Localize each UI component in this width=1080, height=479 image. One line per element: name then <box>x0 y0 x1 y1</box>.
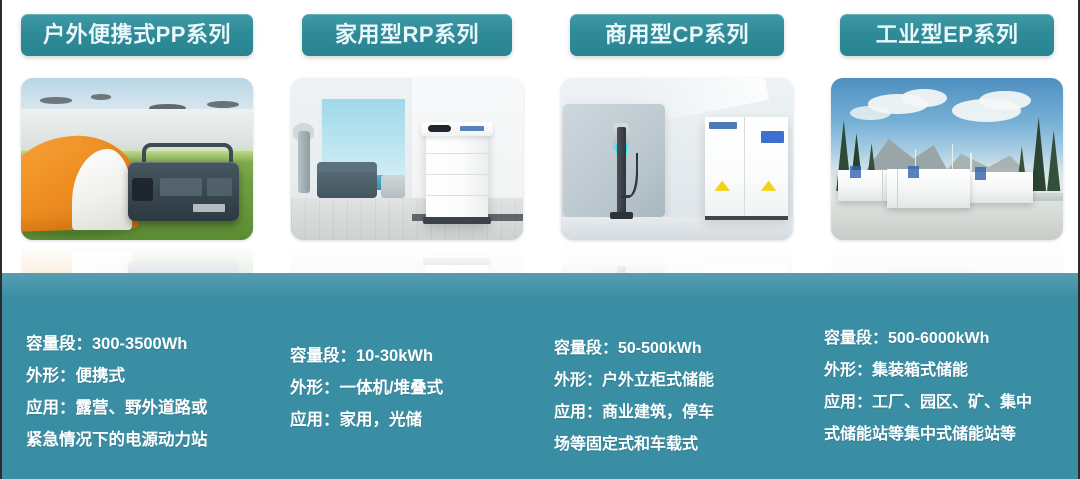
spec-line-application: 应用：商业建筑，停车 <box>554 397 812 429</box>
cabinet-door-seam <box>744 117 745 217</box>
product-series-infographic: 户外便携式PP系列 <box>0 0 1080 479</box>
spec-line-capacity: 容量段：300-3500Wh <box>26 328 272 360</box>
spec-line-application: 应用：露营、野外道路或 <box>26 392 272 424</box>
product-badge-rp[interactable]: 家用型RP系列 <box>302 14 512 56</box>
product-badge-cp[interactable]: 商用型CP系列 <box>570 14 784 56</box>
spec-line-application-cont: 场等固定式和车载式 <box>554 429 812 461</box>
brand-logo-icon <box>908 166 920 179</box>
product-photo-wrap-ep <box>831 78 1063 240</box>
rock-icon <box>91 94 112 100</box>
cloud-icon <box>850 106 892 121</box>
home-stacked-battery-photo <box>291 78 523 240</box>
brand-logo-icon <box>460 126 483 132</box>
spec-line-form: 外形：户外立柜式储能 <box>554 365 812 397</box>
spec-line-form: 外形：便携式 <box>26 360 272 392</box>
backdrop-wall <box>563 104 665 217</box>
power-station-logo <box>193 204 225 212</box>
spec-column-rp: 容量段：10-30kWh 外形：一体机/堆叠式 应用：家用，光储 <box>272 273 542 479</box>
product-card-cp[interactable]: 商用型CP系列 <box>542 0 812 273</box>
spec-line-application-cont: 式储能站等集中式储能站等 <box>824 419 1080 451</box>
portable-power-station-camping-photo <box>21 78 253 240</box>
home-battery-body <box>426 128 489 224</box>
brand-logo-icon <box>850 166 862 179</box>
commercial-cabinet-ev-charger-photo <box>561 78 793 240</box>
spec-columns: 容量段：300-3500Wh 外形：便携式 应用：露营、野外道路或 紧急情况下的… <box>2 273 1080 479</box>
brand-logo-icon <box>709 122 737 129</box>
product-card-ep[interactable]: 工业型EP系列 <box>812 0 1080 273</box>
product-photo-wrap-cp <box>561 78 793 240</box>
spec-line-capacity: 容量段：500-6000kWh <box>824 323 1080 355</box>
battery-base <box>423 217 490 223</box>
floor-region <box>561 217 793 240</box>
spec-line-application: 应用：工厂、园区、矿、集中 <box>824 387 1080 419</box>
cabinet-footing <box>705 216 789 220</box>
brand-logo-icon <box>975 167 987 180</box>
battery-module-seam <box>426 153 489 154</box>
cloud-icon <box>901 89 947 107</box>
battery-module-seam <box>426 174 489 175</box>
spec-line-form: 外形：一体机/堆叠式 <box>290 372 542 404</box>
spec-line-form: 外形：集装箱式储能 <box>824 355 1080 387</box>
product-card-row: 户外便携式PP系列 <box>2 0 1080 273</box>
spec-line-capacity: 容量段：10-30kWh <box>290 340 542 372</box>
power-station-panel <box>160 178 202 196</box>
sofa-icon <box>317 172 377 198</box>
product-badge-pp[interactable]: 户外便携式PP系列 <box>21 14 253 56</box>
rock-icon <box>40 97 72 103</box>
product-photo-wrap-pp <box>21 78 253 240</box>
cabinet-display-screen <box>761 131 784 142</box>
storage-container <box>887 169 971 208</box>
product-badge-ep[interactable]: 工业型EP系列 <box>840 14 1054 56</box>
container-energy-storage-photo <box>831 78 1063 240</box>
rock-icon <box>207 101 239 108</box>
container-door <box>882 169 898 208</box>
floor-lamp-icon <box>298 131 310 193</box>
product-photo-wrap-rp <box>291 78 523 240</box>
power-station-panel-secondary <box>207 178 233 196</box>
power-station-vent <box>132 178 153 201</box>
product-card-rp[interactable]: 家用型RP系列 <box>272 0 542 273</box>
spec-column-cp: 容量段：50-500kWh 外形：户外立柜式储能 应用：商业建筑，停车 场等固定… <box>542 273 812 479</box>
spec-column-pp: 容量段：300-3500Wh 外形：便携式 应用：露营、野外道路或 紧急情况下的… <box>2 273 272 479</box>
spec-line-application-cont: 紧急情况下的电源动力站 <box>26 424 272 456</box>
armchair-icon <box>381 175 404 198</box>
spec-line-application: 应用：家用，光储 <box>290 404 542 436</box>
product-card-pp[interactable]: 户外便携式PP系列 <box>2 0 272 273</box>
cloud-icon <box>979 91 1030 110</box>
spec-line-capacity: 容量段：50-500kWh <box>554 333 812 365</box>
spec-column-ep: 容量段：500-6000kWh 外形：集装箱式储能 应用：工厂、园区、矿、集中 … <box>812 273 1080 479</box>
battery-display-screen <box>428 125 451 132</box>
battery-module-seam <box>426 195 489 196</box>
charger-base <box>610 212 633 218</box>
storage-container <box>963 172 1033 203</box>
spec-panel: 容量段：300-3500Wh 外形：便携式 应用：露营、野外道路或 紧急情况下的… <box>2 273 1080 479</box>
